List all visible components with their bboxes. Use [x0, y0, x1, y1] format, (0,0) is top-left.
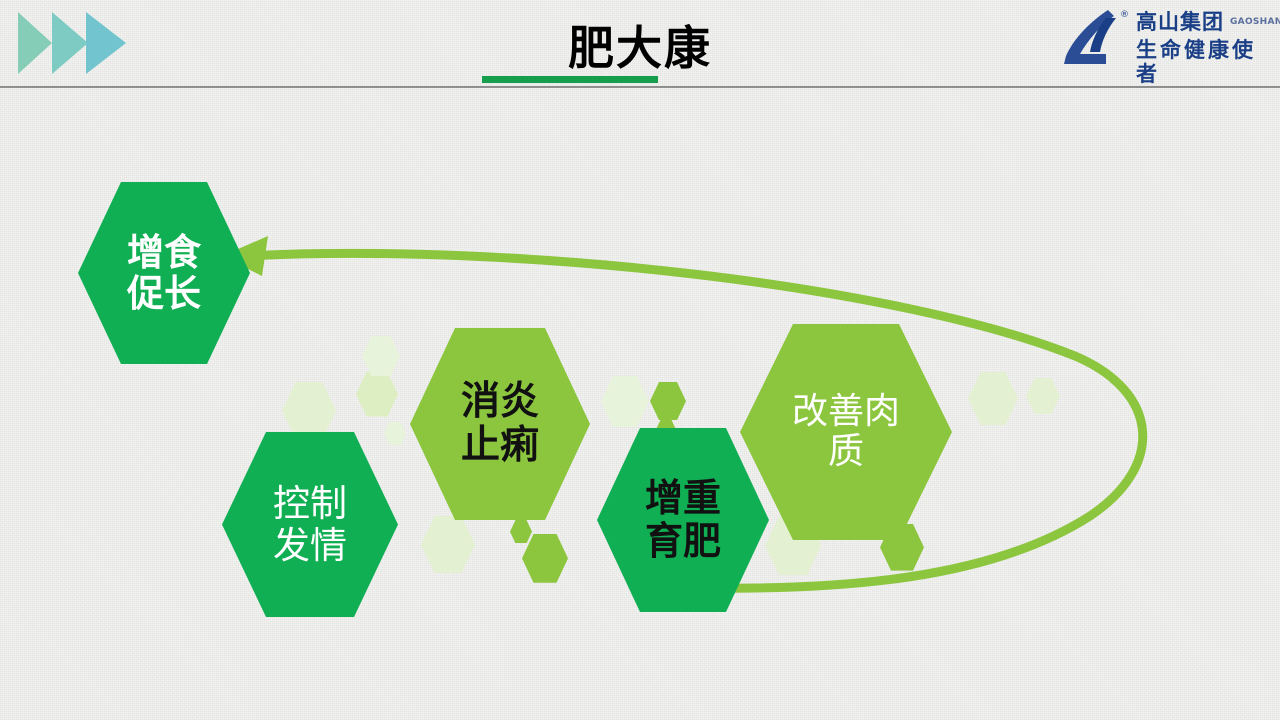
hex-gaishan-rouzhi[interactable]: 改善肉 质	[740, 324, 952, 540]
hex-xiaoyan-zhili[interactable]: 消炎 止痢	[410, 328, 590, 520]
hex-zengzhong-yufei[interactable]: 增重 育肥	[597, 428, 769, 612]
hex-kongzhi-faqing[interactable]: 控制 发情	[222, 432, 398, 617]
main-hexagons: 增食 促长控制 发情消炎 止痢增重 育肥改善肉 质	[0, 176, 1280, 646]
hexagon-label: 增重 育肥	[645, 477, 721, 562]
gaoshan-g-mark-icon	[1060, 8, 1124, 66]
company-logo: ® 高山集团 GAOSHANGROUP 生命健康使者	[1060, 4, 1272, 72]
slide-header: 肥大康 ® 高山集团 GAOSHANGROUP 生命健康使者	[0, 0, 1280, 88]
header-divider	[0, 86, 1280, 88]
hexagon-label: 增食 促长	[127, 232, 201, 315]
slide-canvas: 肥大康 ® 高山集团 GAOSHANGROUP 生命健康使者 增	[0, 0, 1280, 720]
hexagon-label: 消炎 止痢	[461, 380, 539, 467]
hexagon-label: 控制 发情	[273, 483, 347, 566]
registered-mark: ®	[1120, 10, 1129, 20]
logo-company-name-en: GAOSHANGROUP	[1230, 17, 1280, 27]
title-underline	[482, 76, 658, 83]
hex-zengshi-cuzhang[interactable]: 增食 促长	[78, 182, 250, 364]
hexagon-diagram: 增食 促长控制 发情消炎 止痢增重 育肥改善肉 质	[0, 176, 1280, 646]
logo-company-name: 高山集团	[1136, 10, 1224, 34]
logo-slogan: 生命健康使者	[1136, 38, 1272, 86]
hexagon-label: 改善肉 质	[792, 392, 900, 473]
